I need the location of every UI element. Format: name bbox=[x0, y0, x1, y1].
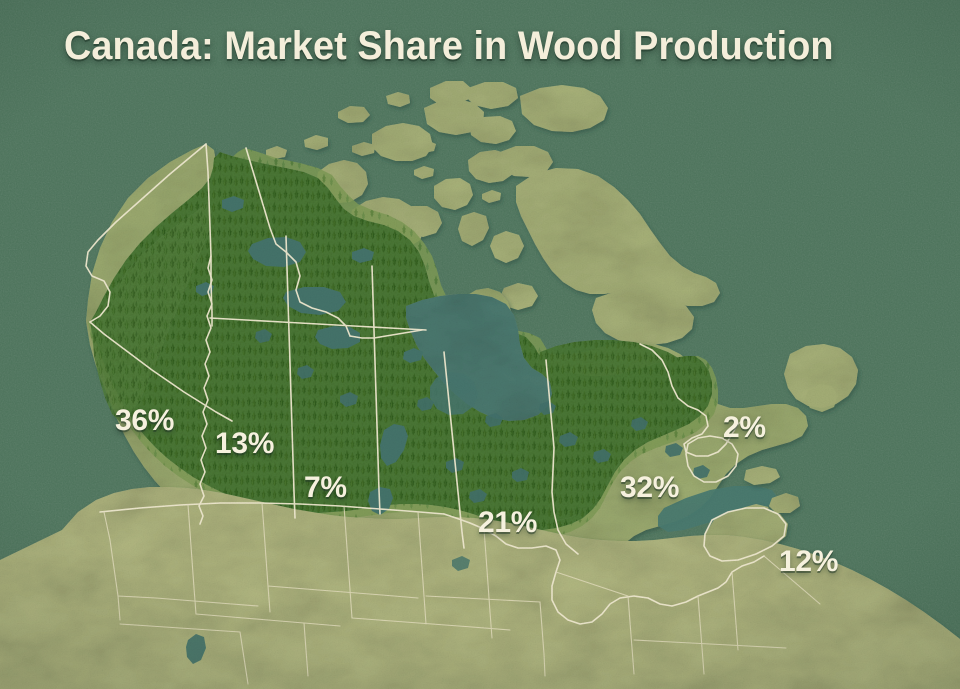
canada-map bbox=[0, 0, 960, 689]
region-label-ontario-quebec: 32% bbox=[620, 471, 679, 505]
region-label-alberta: 13% bbox=[215, 427, 274, 461]
poster-canvas: Canada: Market Share in Wood Production … bbox=[0, 0, 960, 689]
page-title: Canada: Market Share in Wood Production bbox=[64, 24, 877, 69]
region-label-nova-scotia: 12% bbox=[779, 545, 838, 579]
region-label-british-columbia: 36% bbox=[115, 404, 174, 438]
paper-grain bbox=[0, 0, 960, 689]
region-label-manitoba: 21% bbox=[478, 506, 537, 540]
region-label-saskatchewan: 7% bbox=[304, 471, 347, 505]
region-label-new-brunswick: 2% bbox=[723, 411, 766, 445]
